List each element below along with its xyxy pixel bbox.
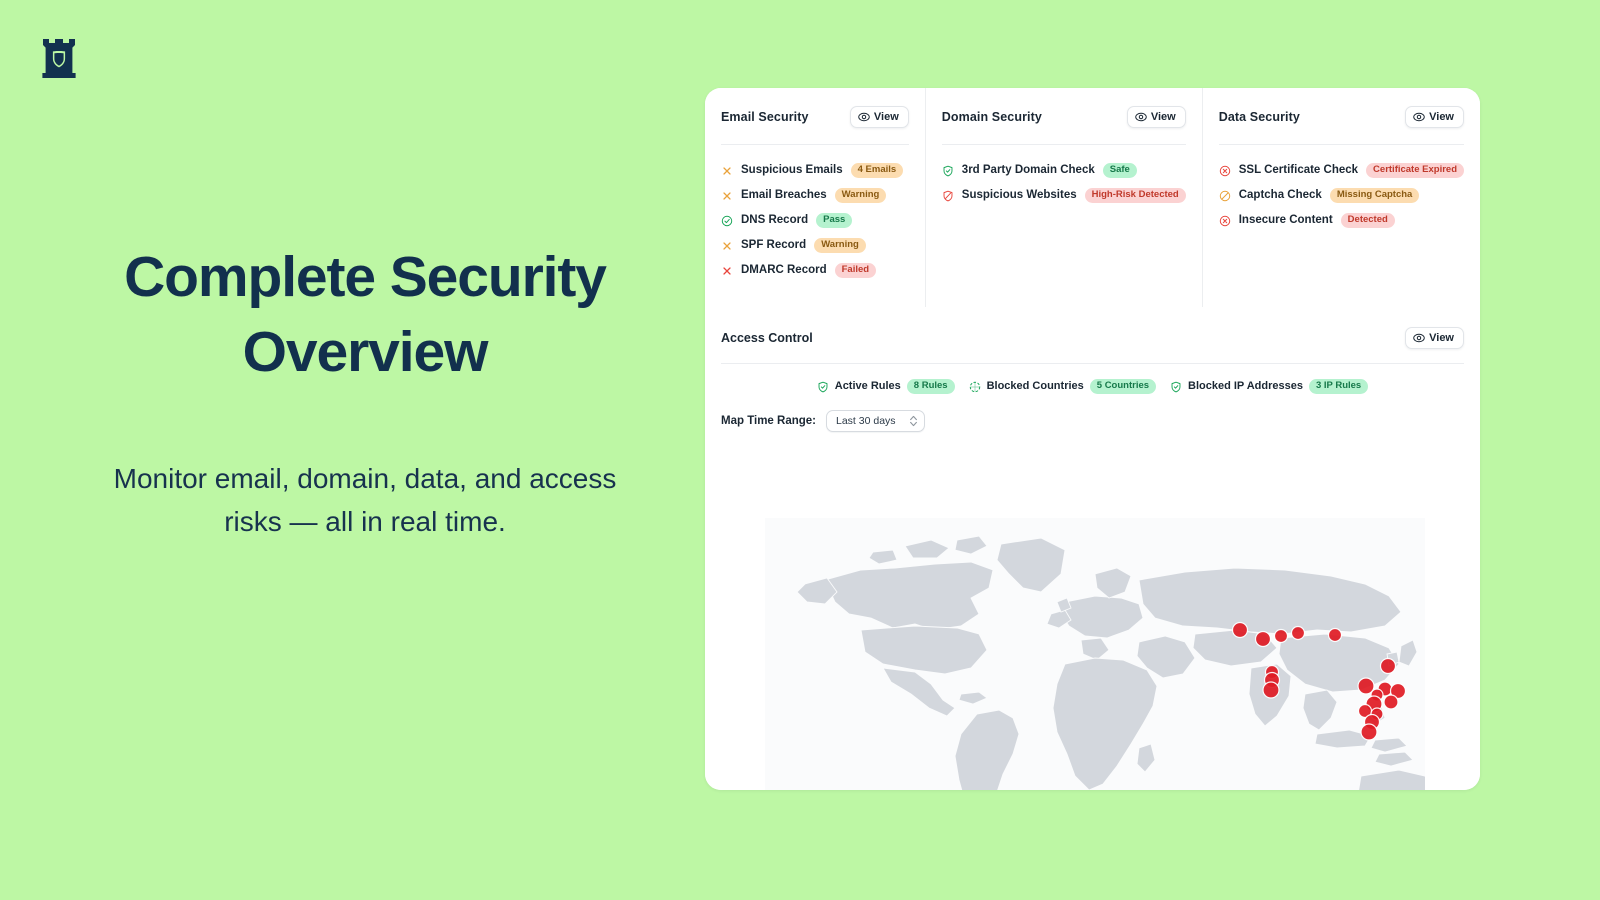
security-check-row: Email BreachesWarning: [721, 183, 909, 207]
security-card-header: Domain SecurityView: [942, 106, 1186, 132]
security-check-row: DMARC RecordFailed: [721, 258, 909, 282]
security-check-row: 3rd Party Domain CheckSafe: [942, 158, 1186, 182]
x-icon: [721, 189, 733, 201]
globe-icon: [969, 380, 981, 392]
security-check-label: DMARC Record: [741, 264, 827, 276]
divider: [942, 144, 1186, 145]
security-card-view-button[interactable]: View: [1127, 106, 1186, 128]
dashboard-panel: Email SecurityViewSuspicious Emails4 Ema…: [705, 88, 1480, 790]
status-badge: Failed: [835, 263, 876, 278]
map-bubble[interactable]: [1384, 695, 1398, 709]
status-badge: High-Risk Detected: [1085, 188, 1186, 203]
eye-icon: [1413, 332, 1425, 344]
status-badge: Pass: [816, 213, 852, 228]
page-subtitle: Monitor email, domain, data, and access …: [60, 458, 670, 543]
security-check-list: SSL Certificate CheckCertificate Expired…: [1219, 158, 1464, 232]
security-check-label: DNS Record: [741, 214, 808, 226]
security-card: Domain SecurityView3rd Party Domain Chec…: [926, 88, 1202, 307]
map-time-range-value: Last 30 days: [836, 415, 896, 427]
map-bubble[interactable]: [1292, 627, 1305, 640]
shield-check-icon: [817, 380, 829, 392]
security-check-row: DNS RecordPass: [721, 208, 909, 232]
security-card-view-label: View: [1429, 111, 1454, 123]
security-card: Email SecurityViewSuspicious Emails4 Ema…: [705, 88, 925, 307]
access-stat-badge: 3 IP Rules: [1309, 379, 1368, 394]
security-card-title: Email Security: [721, 106, 809, 124]
eye-icon: [858, 111, 870, 123]
security-check-row: Suspicious Emails4 Emails: [721, 158, 909, 182]
access-stat: Blocked Countries5 Countries: [969, 379, 1156, 394]
security-check-label: Suspicious Emails: [741, 164, 843, 176]
security-card-view-button[interactable]: View: [850, 106, 909, 128]
security-card-header: Email SecurityView: [721, 106, 909, 132]
security-check-label: Email Breaches: [741, 189, 827, 201]
check-circle-icon: [721, 214, 733, 226]
page-title: Complete Security Overview: [60, 240, 670, 390]
security-check-row: Captcha CheckMissing Captcha: [1219, 183, 1464, 207]
access-control-title: Access Control: [721, 331, 813, 345]
security-check-row: SPF RecordWarning: [721, 233, 909, 257]
slash-circle-icon: [1219, 189, 1231, 201]
page-root: Complete Security Overview Monitor email…: [0, 0, 1600, 900]
security-check-label: Insecure Content: [1239, 214, 1333, 226]
map-bubble[interactable]: [1361, 724, 1377, 740]
x-circle-icon: [1219, 214, 1231, 226]
x-icon: [721, 239, 733, 251]
security-check-label: SSL Certificate Check: [1239, 164, 1358, 176]
security-check-label: SPF Record: [741, 239, 806, 251]
security-check-row: Suspicious WebsitesHigh-Risk Detected: [942, 183, 1186, 207]
security-cards-row: Email SecurityViewSuspicious Emails4 Ema…: [705, 88, 1480, 307]
map-time-range-label: Map Time Range:: [721, 415, 816, 427]
map-time-range-control: Map Time Range: Last 30 days: [721, 409, 1464, 433]
eye-icon: [1135, 111, 1147, 123]
security-check-label: 3rd Party Domain Check: [962, 164, 1095, 176]
x-icon: [721, 264, 733, 276]
access-stat: Blocked IP Addresses3 IP Rules: [1170, 379, 1368, 394]
status-badge: 4 Emails: [851, 163, 904, 178]
status-badge: Certificate Expired: [1366, 163, 1464, 178]
x-circle-icon: [1219, 164, 1231, 176]
access-stat-label: Active Rules: [835, 380, 901, 392]
shield-check-icon: [1170, 380, 1182, 392]
security-card-view-label: View: [874, 111, 899, 123]
security-check-row: Insecure ContentDetected: [1219, 208, 1464, 232]
access-stat: Active Rules8 Rules: [817, 379, 955, 394]
map-bubble[interactable]: [1275, 630, 1288, 643]
status-badge: Safe: [1103, 163, 1137, 178]
status-badge: Warning: [814, 238, 866, 253]
brand-logo[interactable]: [30, 27, 88, 87]
status-badge: Missing Captcha: [1330, 188, 1420, 203]
castle-tower-shield-icon: [37, 33, 81, 81]
security-check-label: Suspicious Websites: [962, 189, 1077, 201]
access-stat-label: Blocked Countries: [987, 380, 1084, 392]
security-check-list: 3rd Party Domain CheckSafeSuspicious Web…: [942, 158, 1186, 207]
access-control-view-label: View: [1429, 332, 1454, 344]
map-time-range-select[interactable]: Last 30 days: [826, 410, 925, 432]
access-control-header: Access Control View: [721, 324, 1464, 352]
blocked-access-map[interactable]: Blocked Access Bubble size = block count: [705, 518, 1480, 790]
divider: [721, 144, 909, 145]
stepper-chevrons-icon: [909, 414, 918, 428]
security-card-view-label: View: [1151, 111, 1176, 123]
map-bubble[interactable]: [1263, 682, 1279, 698]
access-stats-row: Active Rules8 RulesBlocked Countries5 Co…: [721, 377, 1464, 395]
divider: [721, 363, 1464, 364]
map-bubble[interactable]: [1256, 632, 1271, 647]
access-stat-badge: 5 Countries: [1090, 379, 1156, 394]
map-bubble[interactable]: [1233, 623, 1248, 638]
access-control-view-button[interactable]: View: [1405, 327, 1464, 349]
security-card-header: Data SecurityView: [1219, 106, 1464, 132]
security-card: Data SecurityViewSSL Certificate CheckCe…: [1203, 88, 1480, 307]
security-check-row: SSL Certificate CheckCertificate Expired: [1219, 158, 1464, 182]
security-check-list: Suspicious Emails4 EmailsEmail BreachesW…: [721, 158, 909, 282]
status-badge: Warning: [835, 188, 887, 203]
world-map-svg: [765, 518, 1425, 790]
shield-check-icon: [942, 164, 954, 176]
access-stat-badge: 8 Rules: [907, 379, 955, 394]
security-card-view-button[interactable]: View: [1405, 106, 1464, 128]
security-card-title: Data Security: [1219, 106, 1300, 124]
security-check-label: Captcha Check: [1239, 189, 1322, 201]
status-badge: Detected: [1341, 213, 1395, 228]
eye-icon: [1413, 111, 1425, 123]
divider: [1219, 144, 1464, 145]
hero-copy: Complete Security Overview Monitor email…: [60, 240, 670, 544]
map-bubble[interactable]: [1381, 659, 1396, 674]
access-stat-label: Blocked IP Addresses: [1188, 380, 1303, 392]
security-card-title: Domain Security: [942, 106, 1042, 124]
map-bubble[interactable]: [1329, 629, 1342, 642]
x-icon: [721, 164, 733, 176]
shield-slash-icon: [942, 189, 954, 201]
